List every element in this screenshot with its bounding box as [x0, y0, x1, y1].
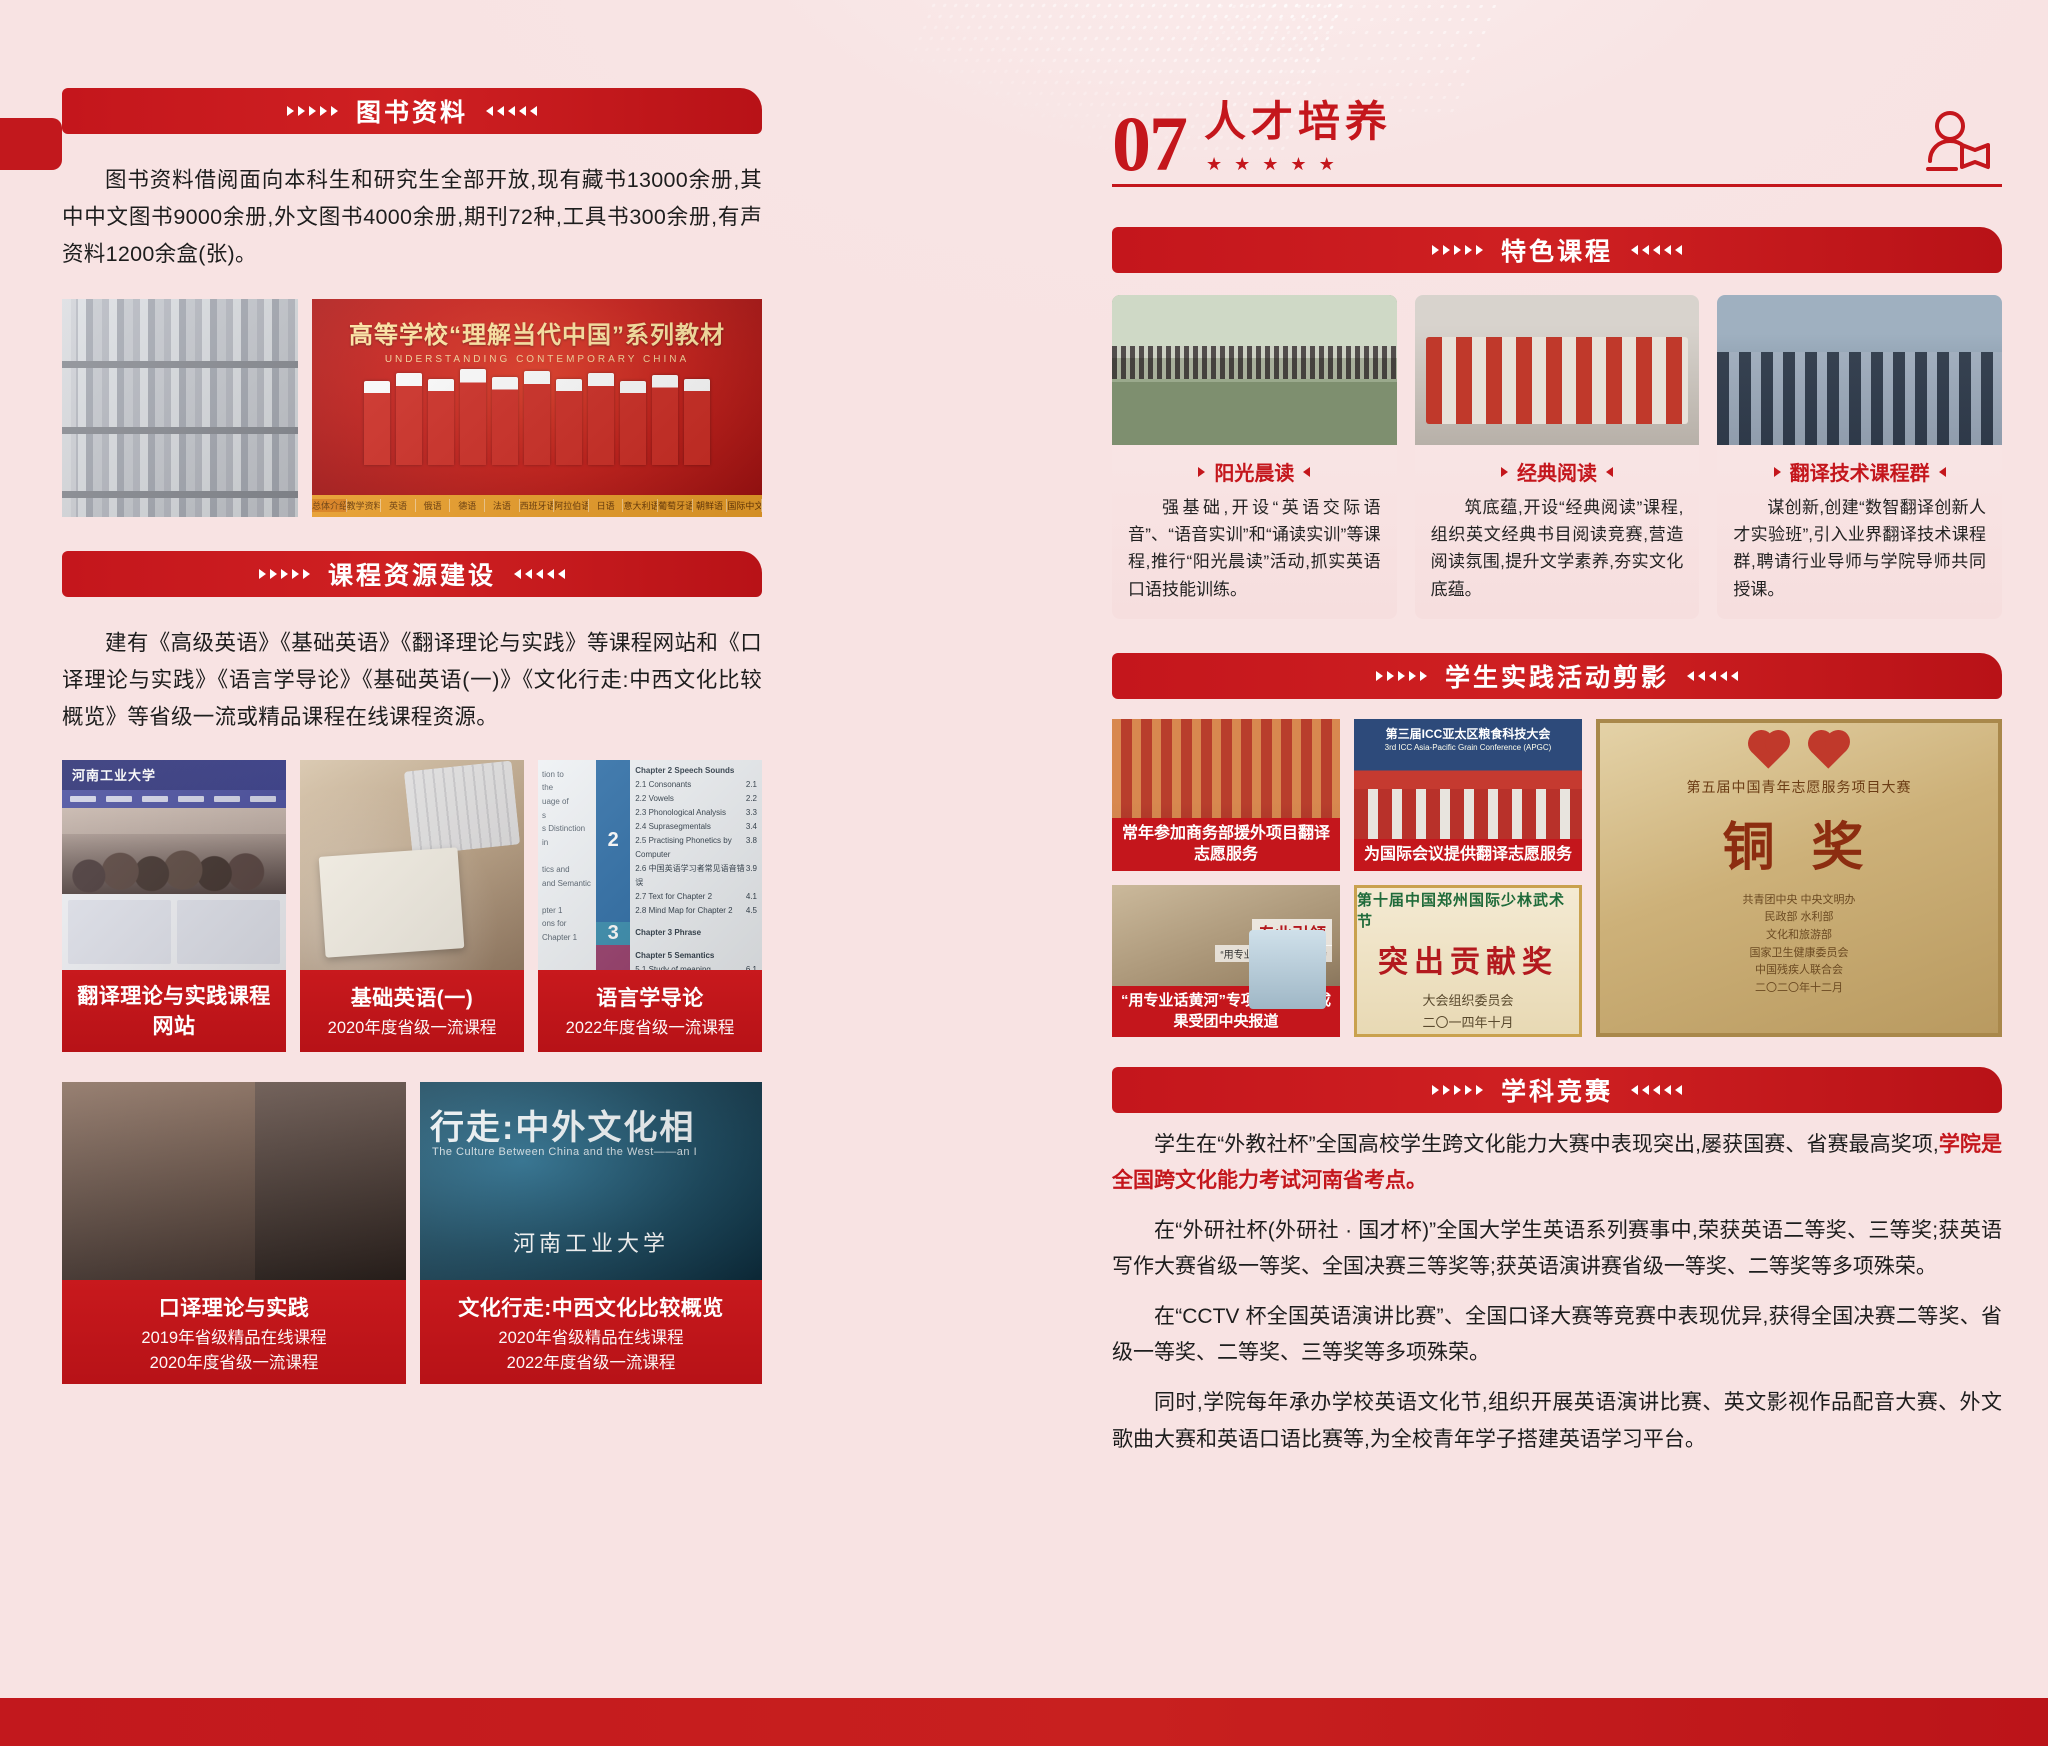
toc-section-heading: Chapter 3 Phrase: [635, 926, 757, 940]
photo-caption: “用专业话黄河”专项社会实践成果受团中央报道: [1112, 986, 1340, 1037]
morning-reading-photo: [1112, 295, 1397, 445]
competition-paragraph: 学生在“外教社杯”全国高校学生跨文化能力大赛中表现突出,屡获国赛、省赛最高奖项,…: [1112, 1127, 2002, 1199]
photo-overlay-title: 专业引领: [1252, 919, 1332, 946]
award-header: 第五届中国青年志愿服务项目大赛: [1687, 777, 1912, 797]
toc-item: 2.4 Suprasegmentals3.4: [635, 820, 757, 834]
certificate-line-4: 二〇一四年十月: [1422, 1013, 1513, 1033]
toc-left-column: tion totheuage ofss Distinction in tics …: [538, 760, 596, 970]
computer-lab-photo: [1717, 295, 2002, 445]
banner-title: 图书资料: [356, 93, 468, 129]
cover-university: 河南工业大学: [420, 1226, 762, 1258]
flags-photo[interactable]: 常年参加商务部援外项目翻译志愿服务: [1112, 719, 1340, 871]
site-hero-photo: [62, 808, 286, 894]
photo-overlay-subtitle: 3rd ICC Asia-Pacific Grain Conference (A…: [1354, 743, 1582, 752]
paragraph-text: 在“外研社杯(外研社 · 国才杯)”全国大学生英语系列赛事中,荣获英语二等奖、三…: [1112, 1219, 2002, 1278]
triangle-right-icon: [1774, 467, 1781, 477]
banner-student-practice: 学生实践活动剪影: [1112, 653, 2002, 699]
banner-title: 课程资源建设: [328, 556, 496, 592]
poster-strip-item: 俄语: [416, 499, 451, 512]
feature-card-title-row: 阳光晨读: [1112, 445, 1397, 490]
award-footer: 共青团中央 中央文明办民政部 水利部文化和旅游部国家卫生健康委员会中国残疾人联合…: [1742, 892, 1855, 998]
site-logo: 河南工业大学: [72, 765, 156, 784]
toc-left-line: [542, 849, 592, 863]
award-footer-line: 文化和旅游部: [1742, 927, 1855, 945]
toc-section-number: 3: [596, 922, 630, 945]
photo-overlay-subtitle: “用专业话黄河”专项社会: [1215, 945, 1332, 962]
star-icon: ★: [1290, 155, 1306, 173]
cover-title: 行走:中外文化相: [430, 1100, 756, 1149]
toc-left-line: tics and: [542, 863, 592, 877]
card-caption-sub-1: 2020年省级精品在线课程: [428, 1327, 754, 1351]
card-caption-title: 文化行走:中西文化比较概览: [428, 1292, 754, 1322]
competition-paragraph: 在“外研社杯(外研社 · 国才杯)”全国大学生英语系列赛事中,荣获英语二等奖、三…: [1112, 1213, 2002, 1285]
right-column: 07 人才培养 ★★★★★ 特色课程: [1112, 88, 2002, 1458]
banner-academic-competitions: 学科竞赛: [1112, 1067, 2002, 1113]
poster-strip-item: 阿拉伯语: [554, 499, 589, 512]
card-interpretation-theory[interactable]: 口译理论与实践 2019年省级精品在线课程 2020年度省级一流课程: [62, 1082, 406, 1384]
toc-item: 2.7 Text for Chapter 24.1: [635, 890, 757, 904]
course-caption-title: 语言学导论: [546, 982, 754, 1012]
poster-strip-item: 意大利语: [623, 499, 658, 512]
brochure-page: 图书资料 图书资料借阅面向本科生和研究生全部开放,现有藏书13000余册,其中中…: [0, 0, 2048, 1746]
triangle-left-icon: [1606, 467, 1613, 477]
banner-arrows-left-icon: [486, 106, 537, 116]
card-caption: 文化行走:中西文化比较概览 2020年省级精品在线课程 2022年度省级一流课程: [420, 1280, 762, 1384]
star-icon: ★: [1319, 155, 1335, 173]
poster-title: 高等学校“理解当代中国”系列教材: [312, 315, 762, 350]
feature-card-title-row: 经典阅读: [1415, 445, 1700, 490]
paragraph-text: 在“CCTV 杯全国英语演讲比赛”、全国口译大赛等竞赛中表现优异,获得全国决赛二…: [1112, 1305, 2002, 1364]
desk-notebook-photo: [300, 760, 524, 970]
poster-strip-item: 英语: [381, 499, 416, 512]
award-ceremony-photo: [1415, 295, 1700, 445]
card-caption-sub-2: 2020年度省级一流课程: [70, 1352, 398, 1376]
featured-course-cards: 阳光晨读 强基础,开设“英语交际语音”、“语音实训”和“诵读实训”等课程,推行“…: [1112, 295, 2002, 619]
award-footer-line: 共青团中央 中央文明办: [1742, 892, 1855, 910]
banner-arrows-left-icon: [1631, 245, 1682, 255]
toc-section-heading: Chapter 2 Speech Sounds: [635, 764, 757, 778]
course-card-translation-website[interactable]: 河南工业大学 翻译理论与实践课程网站: [62, 760, 286, 1052]
card-cultural-walk[interactable]: 行走:中外文化相 The Culture Between China and t…: [420, 1082, 762, 1384]
toc-item: 5.1 Study of meaning6.1: [635, 963, 757, 970]
toc-item: 2.6 中国英语学习者常见语音错误3.9: [635, 862, 757, 890]
feature-card-text: 谋创新,创建“数智翻译创新人才实验班”,引入业界翻译技术课程群,聘请行业导师与学…: [1717, 490, 2002, 619]
feature-card-text: 筑底蕴,开设“经典阅读”课程,组织英文经典书目阅读竞赛,营造阅读氛围,提升文学素…: [1415, 490, 1700, 619]
photo-caption: 为国际会议提供翻译志愿服务: [1354, 839, 1582, 871]
toc-item: 2.3 Phonological Analysis3.3: [635, 806, 757, 820]
triangle-right-icon: [1501, 467, 1508, 477]
competition-paragraph: 在“CCTV 杯全国英语演讲比赛”、全国口译大赛等竞赛中表现优异,获得全国决赛二…: [1112, 1299, 2002, 1371]
poster-language-strip: 总体介绍教学资料英语俄语德语法语西班牙语阿拉伯语日语意大利语葡萄牙语朝鲜语国际中…: [312, 495, 762, 517]
yellow-river-photo[interactable]: 专业引领 “用专业话黄河”专项社会 “用专业话黄河”专项社会实践成果受团中央报道: [1112, 885, 1340, 1037]
toc-left-line: s Distinction in: [542, 822, 592, 849]
toc-left-line: the: [542, 781, 592, 795]
toc-item: 2.8 Mind Map for Chapter 24.5: [635, 904, 757, 918]
banner-title: 学生实践活动剪影: [1445, 658, 1669, 694]
wushu-certificate[interactable]: 第十届中国郑州国际少林武术节 突出贡献奖 大会组织委员会 二〇一四年十月: [1354, 885, 1582, 1037]
person-with-book-icon: [1926, 109, 2000, 175]
card-caption-sub-2: 2022年度省级一流课程: [428, 1352, 754, 1376]
poster-strip-item: 日语: [589, 499, 624, 512]
triangle-left-icon: [1939, 467, 1946, 477]
feature-card-title: 翻译技术课程群: [1790, 457, 1930, 486]
section-title: 人才培养: [1204, 88, 1392, 149]
photo-overlay-title: 第三届ICC亚太区粮食科技大会: [1354, 725, 1582, 742]
poster-heading: 高等学校“理解当代中国”系列教材 UNDERSTANDING CONTEMPOR…: [312, 299, 762, 369]
section-stars: ★★★★★: [1204, 155, 1392, 173]
course-caption-title: 基础英语(一): [308, 982, 516, 1012]
toc-section-lines: Chapter 5 Semantics5.1 Study of meaning6…: [630, 945, 762, 970]
practice-photo-grid: 常年参加商务部援外项目翻译志愿服务 第三届ICC亚太区粮食科技大会 3rd IC…: [1112, 719, 2002, 1037]
textbook-contents-page: tion totheuage ofss Distinction in tics …: [538, 760, 762, 970]
star-icon: ★: [1206, 155, 1222, 173]
toc-section-number: 2: [596, 760, 630, 922]
course-caption-title: 翻译理论与实践课程网站: [70, 980, 278, 1040]
feature-card-title: 阳光晨读: [1214, 457, 1294, 486]
banner-arrows-left-icon: [1631, 1085, 1682, 1095]
toc-left-line: s: [542, 809, 592, 823]
poster-strip-item: 西班牙语: [520, 499, 555, 512]
card-caption: 口译理论与实践 2019年省级精品在线课程 2020年度省级一流课程: [62, 1280, 406, 1384]
star-icon: ★: [1234, 155, 1250, 173]
toc-left-line: [542, 958, 592, 970]
poster-strip-item: 总体介绍: [312, 499, 347, 512]
triangle-left-icon: [1303, 467, 1310, 477]
poster-strip-item: 法语: [485, 499, 520, 512]
course-caption-sub: 2020年度省级一流课程: [308, 1017, 516, 1041]
left-column: 图书资料 图书资料借阅面向本科生和研究生全部开放,现有藏书13000余册,其中中…: [62, 88, 762, 1384]
award-footer-line: 国家卫生健康委员会: [1742, 945, 1855, 963]
toc-section: 3Chapter 3 Phrase: [596, 922, 762, 945]
toc-item: 2.2 Vowels2.2: [635, 792, 757, 806]
library-materials-paragraph: 图书资料借阅面向本科生和研究生全部开放,现有藏书13000余册,其中中文图书90…: [62, 162, 762, 273]
banner-title: 特色课程: [1501, 232, 1613, 268]
toc-right-column: 2Chapter 2 Speech Sounds2.1 Consonants2.…: [596, 760, 762, 970]
photo-caption: 常年参加商务部援外项目翻译志愿服务: [1112, 818, 1340, 871]
award-footer-line: 中国残疾人联合会: [1742, 962, 1855, 980]
course-card-linguistics[interactable]: tion totheuage ofss Distinction in tics …: [538, 760, 762, 1052]
toc-left-line: and Semantic: [542, 877, 592, 891]
certificate-line-1: 第十届中国郑州国际少林武术节: [1357, 889, 1579, 931]
toc-section: 2Chapter 2 Speech Sounds2.1 Consonants2.…: [596, 760, 762, 922]
conference-photo[interactable]: 第三届ICC亚太区粮食科技大会 3rd ICC Asia-Pacific Gra…: [1354, 719, 1582, 871]
poster-strip-item: 国际中文: [727, 499, 762, 512]
banner-arrows-right-icon: [1432, 1085, 1483, 1095]
toc-left-line: ons for Chapter 1: [542, 917, 592, 944]
site-content-blocks: [62, 894, 286, 970]
course-card-basic-english[interactable]: 基础英语(一) 2020年度省级一流课程: [300, 760, 524, 1052]
paragraph-text: 学生在“外教社杯”全国高校学生跨文化能力大赛中表现突出,屡获国赛、省赛最高奖项,: [1154, 1133, 1939, 1156]
toc-section-number: 5: [596, 945, 630, 970]
banner-library-materials: 图书资料: [62, 88, 762, 134]
footer-red-bar: [0, 1698, 2048, 1746]
course-caption: 翻译理论与实践课程网站: [62, 970, 286, 1052]
certificate-line-3: 大会组织委员会: [1422, 991, 1513, 1011]
banner-arrows-right-icon: [259, 569, 310, 579]
poster-book-covers: [312, 369, 762, 495]
course-caption: 基础英语(一) 2020年度省级一流课程: [300, 970, 524, 1052]
certificate-line-2: 突出贡献奖: [1378, 937, 1558, 981]
award-footer-line: 二〇二〇年十二月: [1742, 980, 1855, 998]
poster-subtitle: UNDERSTANDING CONTEMPORARY CHINA: [312, 354, 762, 365]
feature-card-title-row: 翻译技术课程群: [1717, 445, 2002, 490]
toc-item: 2.5 Practising Phonetics by Computer3.8: [635, 834, 757, 862]
poster-strip-item: 葡萄牙语: [658, 499, 693, 512]
toc-left-line: [542, 890, 592, 904]
feature-card-classic-reading[interactable]: 经典阅读 筑底蕴,开设“经典阅读”课程,组织英文经典书目阅读竞赛,营造阅读氛围,…: [1415, 295, 1700, 619]
banner-course-resources: 课程资源建设: [62, 551, 762, 597]
poster-strip-item: 朝鲜语: [693, 499, 728, 512]
toc-left-line: [542, 945, 592, 959]
toc-left-line: uage of: [542, 795, 592, 809]
toc-section: 5Chapter 5 Semantics5.1 Study of meaning…: [596, 945, 762, 970]
forum-discussion-photo: [62, 1082, 406, 1280]
feature-card-text: 强基础,开设“英语交际语音”、“语音实训”和“诵读实训”等课程,推行“阳光晨读”…: [1112, 490, 1397, 619]
toc-item: 2.1 Consonants2.1: [635, 778, 757, 792]
card-caption-sub-1: 2019年省级精品在线课程: [70, 1327, 398, 1351]
award-title: 铜 奖: [1722, 805, 1875, 880]
triangle-right-icon: [1198, 467, 1205, 477]
toc-left-line: tion to: [542, 768, 592, 782]
cultural-walk-course-cover: 行走:中外文化相 The Culture Between China and t…: [420, 1082, 762, 1280]
heart-icons: [1756, 739, 1842, 763]
star-icon: ★: [1262, 155, 1278, 173]
toc-section-lines: Chapter 2 Speech Sounds2.1 Consonants2.1…: [630, 760, 762, 922]
paragraph-text: 同时,学院每年承办学校英语文化节,组织开展英语演讲比赛、英文影视作品配音大赛、外…: [1112, 1391, 2002, 1450]
section-number: 07: [1112, 111, 1186, 177]
course-caption-sub: 2022年度省级一流课程: [546, 1017, 754, 1041]
feature-card-title: 经典阅读: [1517, 457, 1597, 486]
banner-arrows-right-icon: [1432, 245, 1483, 255]
competition-paragraph: 同时,学院每年承办学校英语文化节,组织开展英语演讲比赛、英文影视作品配音大赛、外…: [1112, 1385, 2002, 1457]
bronze-award-certificate[interactable]: 第五届中国青年志愿服务项目大赛 铜 奖 共青团中央 中央文明办民政部 水利部文化…: [1596, 719, 2002, 1037]
cover-subtitle: The Culture Between China and the West——…: [432, 1146, 756, 1158]
banner-featured-courses: 特色课程: [1112, 227, 2002, 273]
banner-arrows-right-icon: [287, 106, 338, 116]
site-header: 河南工业大学: [62, 760, 286, 790]
section-underline: [1112, 184, 2002, 187]
toc-section-heading: Chapter 5 Semantics: [635, 949, 757, 963]
site-nav: [62, 790, 286, 808]
course-website-screenshot: 河南工业大学: [62, 760, 286, 970]
textbook-series-poster: 高等学校“理解当代中国”系列教材 UNDERSTANDING CONTEMPOR…: [312, 299, 762, 517]
library-shelf-photo: [62, 299, 298, 517]
poster-strip-item: 德语: [450, 499, 485, 512]
banner-arrows-left-icon: [514, 569, 565, 579]
banner-title: 学科竞赛: [1501, 1072, 1613, 1108]
left-edge-red-tab: [0, 118, 62, 170]
toc-left-line: pter 1: [542, 904, 592, 918]
competition-paragraphs: 学生在“外教社杯”全国高校学生跨文化能力大赛中表现突出,屡获国赛、省赛最高奖项,…: [1112, 1127, 2002, 1458]
toc-section-lines: Chapter 3 Phrase: [630, 922, 762, 945]
poster-strip-item: 教学资料: [347, 499, 382, 512]
award-footer-line: 民政部 水利部: [1742, 909, 1855, 927]
course-caption: 语言学导论 2022年度省级一流课程: [538, 970, 762, 1052]
feature-card-translation-technology[interactable]: 翻译技术课程群 谋创新,创建“数智翻译创新人才实验班”,引入业界翻译技术课程群,…: [1717, 295, 2002, 619]
course-resources-paragraph: 建有《高级英语》《基础英语》《翻译理论与实践》等课程网站和《口译理论与实践》《语…: [62, 625, 762, 736]
feature-card-morning-reading[interactable]: 阳光晨读 强基础,开设“英语交际语音”、“语音实训”和“诵读实训”等课程,推行“…: [1112, 295, 1397, 619]
banner-arrows-left-icon: [1687, 671, 1738, 681]
section-header-talent-cultivation: 07 人才培养 ★★★★★: [1112, 88, 2002, 187]
card-caption-title: 口译理论与实践: [70, 1292, 398, 1322]
banner-arrows-right-icon: [1376, 671, 1427, 681]
